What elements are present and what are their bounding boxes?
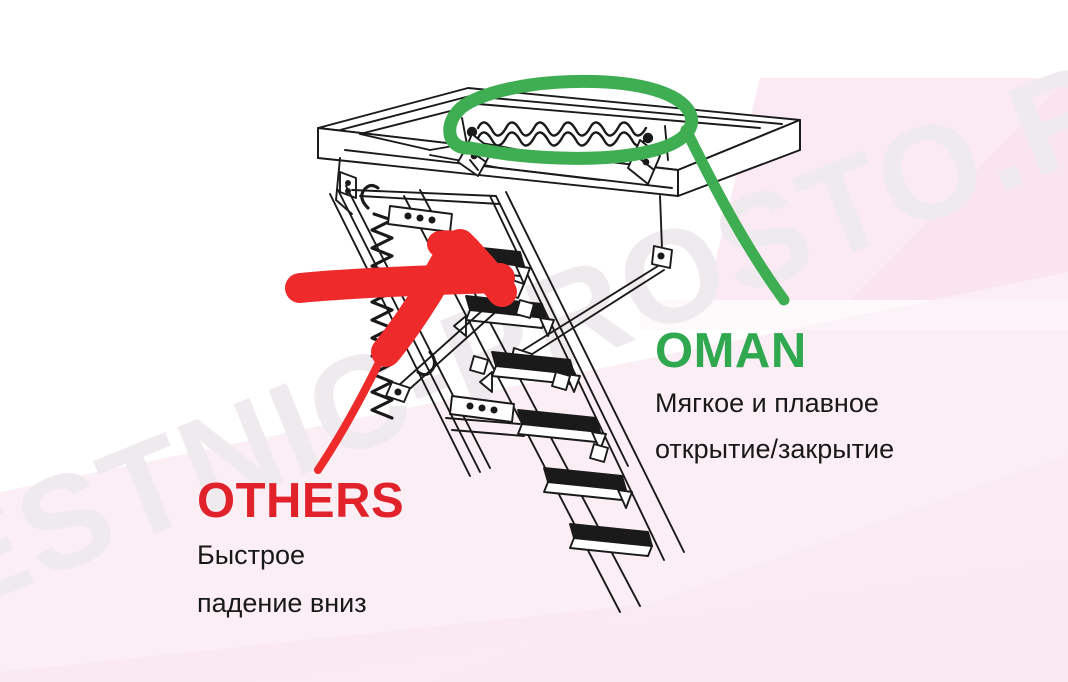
oman-title: OMAN	[655, 327, 985, 376]
callout-oman: OMAN Мягкое и плавное открытие/закрытие	[655, 327, 985, 469]
oman-line-2: открытие/закрытие	[655, 430, 985, 468]
illustration-canvas: LESTNIC-PROSTO.RU	[0, 0, 1068, 682]
callout-others: OTHERS Быстрое падение вниз	[197, 477, 497, 623]
others-title: OTHERS	[197, 477, 497, 526]
red-arrow	[300, 243, 502, 470]
others-line-1: Быстрое	[197, 536, 497, 574]
others-line-2: падение вниз	[197, 584, 497, 622]
oman-line-1: Мягкое и плавное	[655, 384, 985, 422]
